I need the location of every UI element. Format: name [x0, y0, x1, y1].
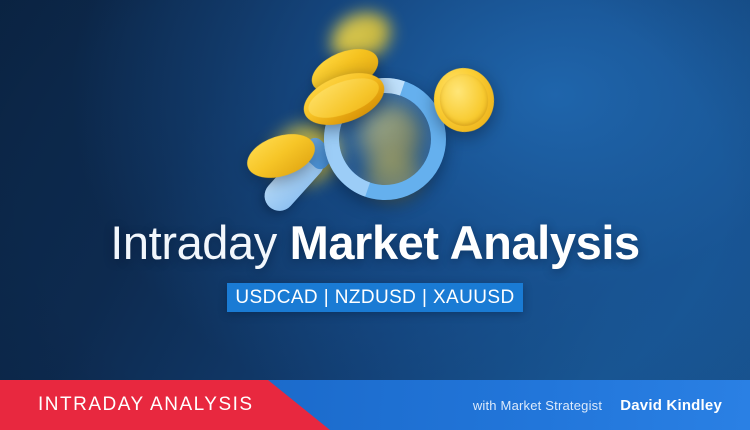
intraday-market-analysis-banner: Intraday Market Analysis USDCAD | NZDUSD… [0, 0, 750, 430]
footer-strategist-group: with Market Strategist David Kindley [473, 380, 722, 430]
currency-pairs-label: USDCAD | NZDUSD | XAUUSD [235, 288, 514, 307]
magnifier-coins-illustration [246, 0, 536, 220]
strategist-name-label: David Kindley [620, 397, 722, 414]
footer-bar: INTRADAY ANALYSIS with Market Strategist… [0, 380, 750, 430]
footer-category-label: INTRADAY ANALYSIS [38, 380, 254, 430]
title-part-light: Intraday [110, 216, 277, 269]
strategist-prefix-label: with Market Strategist [473, 398, 602, 413]
currency-pairs-badge: USDCAD | NZDUSD | XAUUSD [227, 283, 523, 312]
title-part-bold: Market Analysis [290, 216, 640, 269]
page-title: Intraday Market Analysis [0, 216, 750, 270]
